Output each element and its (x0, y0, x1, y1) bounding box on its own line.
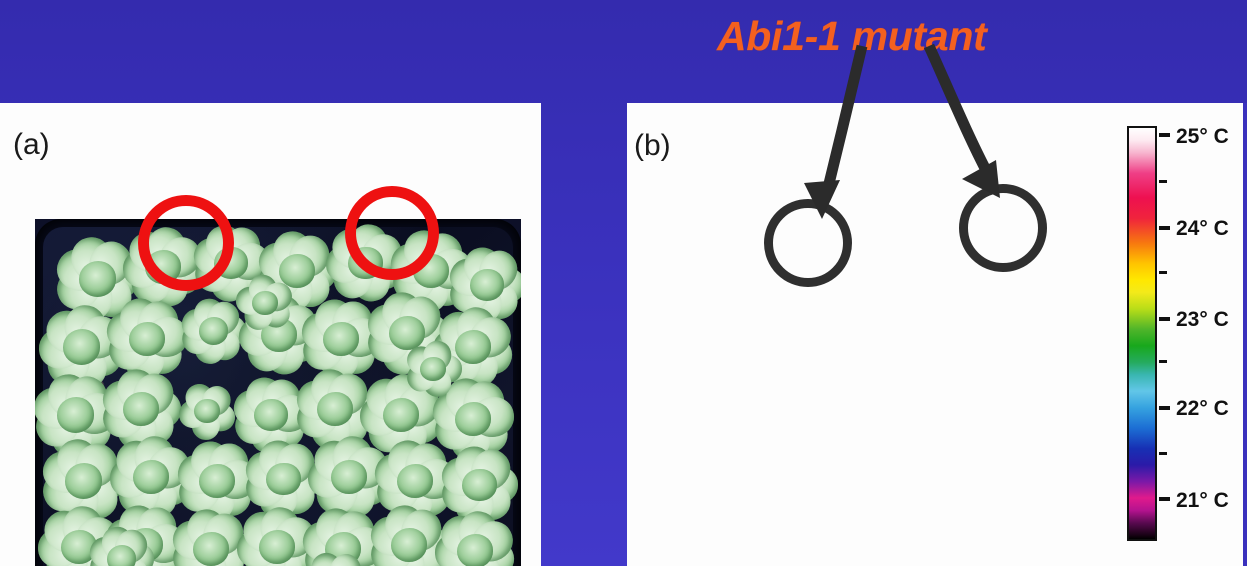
colorbar-label-22: 22° C (1176, 398, 1229, 419)
rosette (403, 339, 463, 399)
colorbar-ticks (1157, 126, 1171, 541)
colorbar-label-21: 21° C (1176, 490, 1229, 511)
temperature-colorbar (1127, 126, 1157, 541)
plant-tray (35, 219, 521, 566)
colorbar-major-tick-24 (1159, 226, 1170, 230)
rosette (177, 381, 237, 441)
rosette (235, 273, 295, 333)
panel-a (0, 103, 541, 566)
dark-circle-left (764, 199, 852, 287)
colorbar-gradient (1127, 126, 1157, 541)
figure-title: Abi1-1 mutant (717, 9, 1067, 63)
red-circle-right (345, 186, 439, 280)
figure-canvas: Abi1-1 mutant (a) (b) (0, 0, 1247, 566)
colorbar-minor-tick-1 (1159, 271, 1167, 274)
colorbar-label-25: 25° C (1176, 126, 1229, 147)
colorbar-major-tick-25 (1159, 133, 1170, 137)
colorbar-minor-tick-0 (1159, 180, 1167, 183)
panel-b-label: (b) (634, 131, 671, 161)
panel-a-label: (a) (13, 130, 50, 160)
colorbar-labels: 25° C 24° C 23° C 22° C 21° C (1176, 126, 1246, 541)
slide-right-edge (1243, 103, 1247, 566)
colorbar-minor-tick-2 (1159, 360, 1167, 363)
colorbar-minor-tick-3 (1159, 452, 1167, 455)
panel-a-photograph (35, 219, 521, 566)
colorbar-major-tick-23 (1159, 317, 1170, 321)
colorbar-major-tick-21 (1159, 497, 1170, 501)
colorbar-label-23: 23° C (1176, 309, 1229, 330)
colorbar-major-tick-22 (1159, 406, 1170, 410)
red-circle-left (138, 195, 234, 291)
dark-circle-right (959, 184, 1047, 272)
colorbar-label-24: 24° C (1176, 218, 1229, 239)
